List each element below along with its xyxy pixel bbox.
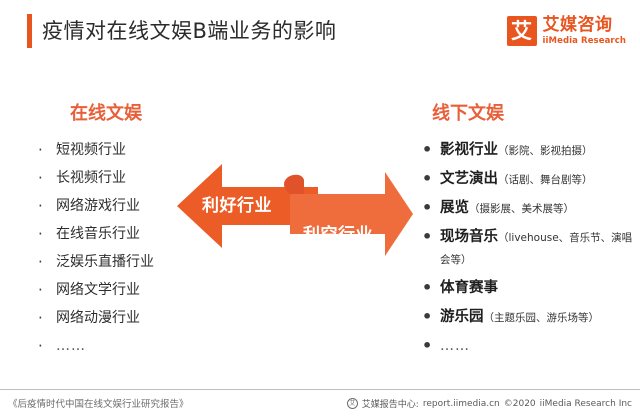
footer-company: iiMedia Research Inc	[540, 399, 632, 409]
list-item-label: 游乐园	[440, 309, 484, 325]
list-item-content: 体育赛事	[440, 278, 634, 300]
footer-meta: 艾 艾媒报告中心: report.iimedia.cn ©2020 iiMedi…	[347, 397, 632, 410]
list-item-note: （主题乐园、游乐场等）	[484, 312, 600, 324]
bullet-dot-icon: ·	[38, 140, 56, 160]
bullet-dot-icon: •	[422, 169, 440, 189]
logo-mark-icon: 艾	[507, 16, 537, 46]
list-item-label: 体育赛事	[440, 280, 498, 296]
bullet-dot-icon: •	[422, 336, 440, 356]
bullet-dot-icon: ·	[38, 336, 56, 356]
bullet-dot-icon: •	[422, 198, 440, 218]
list-item: • 文艺演出（话剧、舞台剧等）	[422, 169, 634, 191]
list-item: • 影视行业（影院、影视拍摄）	[422, 140, 634, 162]
list-item: • 体育赛事	[422, 278, 634, 300]
list-item-label: 网络动漫行业	[56, 308, 218, 328]
list-item-label: 影视行业	[440, 142, 498, 158]
list-item-label: 网络文学行业	[56, 280, 218, 300]
page-header: 疫情对在线文娱B端业务的影响 艾 艾媒咨询 iiMedia Research	[0, 0, 640, 62]
page-title: 疫情对在线文娱B端业务的影响	[42, 15, 336, 47]
bullet-dot-icon: ·	[38, 308, 56, 328]
list-item-note: （话剧、舞台剧等）	[498, 174, 593, 186]
list-item-label: 现场音乐	[440, 229, 498, 245]
list-item: • 游乐园（主题乐园、游乐场等）	[422, 307, 634, 329]
bullet-dot-icon: •	[422, 307, 440, 327]
brand-logo: 艾 艾媒咨询 iiMedia Research	[507, 14, 627, 48]
list-item-content: 文艺演出（话剧、舞台剧等）	[440, 169, 634, 191]
list-item: • 现场音乐（livehouse、音乐节、演唱会等）	[422, 227, 634, 271]
footer-center-label: 艾媒报告中心:	[362, 397, 419, 410]
list-item-label: 展览	[440, 200, 469, 216]
list-item-content: 影视行业（影院、影视拍摄）	[440, 140, 634, 162]
list-item: · ……	[38, 336, 218, 356]
bullet-dot-icon: ·	[38, 280, 56, 300]
bullet-dot-icon: ·	[38, 224, 56, 244]
list-item-note: （摄影展、美术展等）	[469, 203, 574, 215]
list-item-note: （影院、影视拍摄）	[498, 145, 593, 157]
logo-name-en: iiMedia Research	[543, 37, 627, 46]
bullet-dot-icon: ·	[38, 168, 56, 188]
left-column-heading: 在线文娱	[70, 99, 142, 125]
list-item-content: 现场音乐（livehouse、音乐节、演唱会等）	[440, 227, 634, 271]
bullet-dot-icon: ·	[38, 252, 56, 272]
list-item: • 展览（摄影展、美术展等）	[422, 198, 634, 220]
list-item: · 网络文学行业	[38, 280, 218, 300]
logo-badge-icon: 艾	[347, 398, 358, 409]
footer-report-title: 《后疫情时代中国在线文娱行业研究报告》	[8, 396, 189, 410]
left-arrow-label: 利好行业	[202, 191, 272, 216]
bullet-dot-icon: •	[422, 227, 440, 247]
footer-url-link[interactable]: report.iimedia.cn	[423, 399, 500, 409]
right-arrow-tail-curl-icon	[284, 175, 304, 194]
right-column-heading: 线下文娱	[432, 99, 504, 125]
list-item-content: 游乐园（主题乐园、游乐场等）	[440, 307, 634, 329]
list-item: • ……	[422, 336, 634, 357]
footer-copyright: ©2020	[504, 399, 536, 409]
list-item: · 短视频行业	[38, 140, 218, 160]
arrow-diagram: 利好行业 利空行业	[170, 158, 420, 270]
bullet-dot-icon: •	[422, 140, 440, 160]
footer-divider	[0, 389, 640, 390]
right-arrow-label: 利空行业	[303, 220, 373, 245]
logo-text: 艾媒咨询 iiMedia Research	[543, 17, 627, 46]
list-item-label: ……	[56, 336, 218, 356]
list-item: · 网络动漫行业	[38, 308, 218, 328]
list-item-label: 短视频行业	[56, 140, 218, 160]
bullet-dot-icon: ·	[38, 196, 56, 216]
logo-name-cn: 艾媒咨询	[543, 17, 627, 34]
title-accent-bar	[27, 14, 32, 48]
list-item-content: 展览（摄影展、美术展等）	[440, 198, 634, 220]
list-item-label: 文艺演出	[440, 171, 498, 187]
right-column-list: • 影视行业（影院、影视拍摄） • 文艺演出（话剧、舞台剧等） • 展览（摄影展…	[422, 140, 634, 364]
bullet-dot-icon: •	[422, 278, 440, 298]
list-item-label: ……	[440, 336, 634, 357]
